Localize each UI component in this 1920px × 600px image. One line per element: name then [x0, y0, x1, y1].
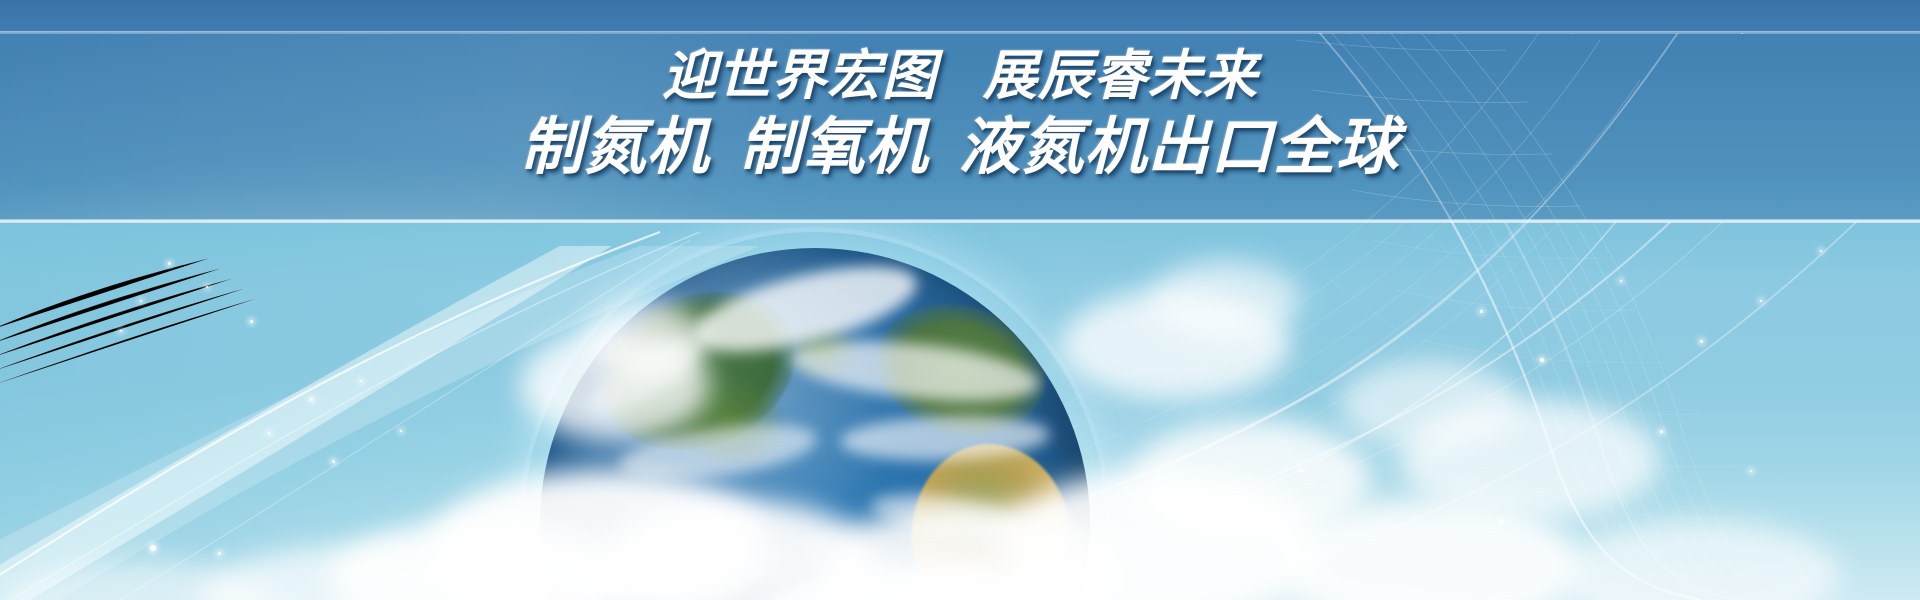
headline-band-divider — [0, 219, 1920, 223]
top-strip — [0, 0, 1920, 33]
headline-line2-part3: 液氮机出口全球 — [959, 110, 1400, 183]
headline-line1-part2: 展辰睿未来 — [983, 43, 1258, 107]
promotional-banner: 迎世界宏图展辰睿未来 制氮机制氧机液氮机出口全球 — [0, 0, 1920, 600]
top-strip-divider — [0, 31, 1920, 34]
headline-line2-part2: 制氧机 — [740, 110, 929, 183]
headline-block: 迎世界宏图展辰睿未来 制氮机制氧机液氮机出口全球 — [0, 44, 1920, 184]
headline-line2-part1: 制氮机 — [521, 110, 710, 183]
headline-line-1: 迎世界宏图展辰睿未来 — [0, 44, 1920, 106]
headline-line-2: 制氮机制氧机液氮机出口全球 — [0, 110, 1920, 184]
globe-cloud-swirl — [658, 524, 842, 600]
earth-globe — [540, 248, 1090, 600]
globe-sphere — [540, 248, 1090, 600]
headline-line1-part1: 迎世界宏图 — [662, 43, 937, 107]
